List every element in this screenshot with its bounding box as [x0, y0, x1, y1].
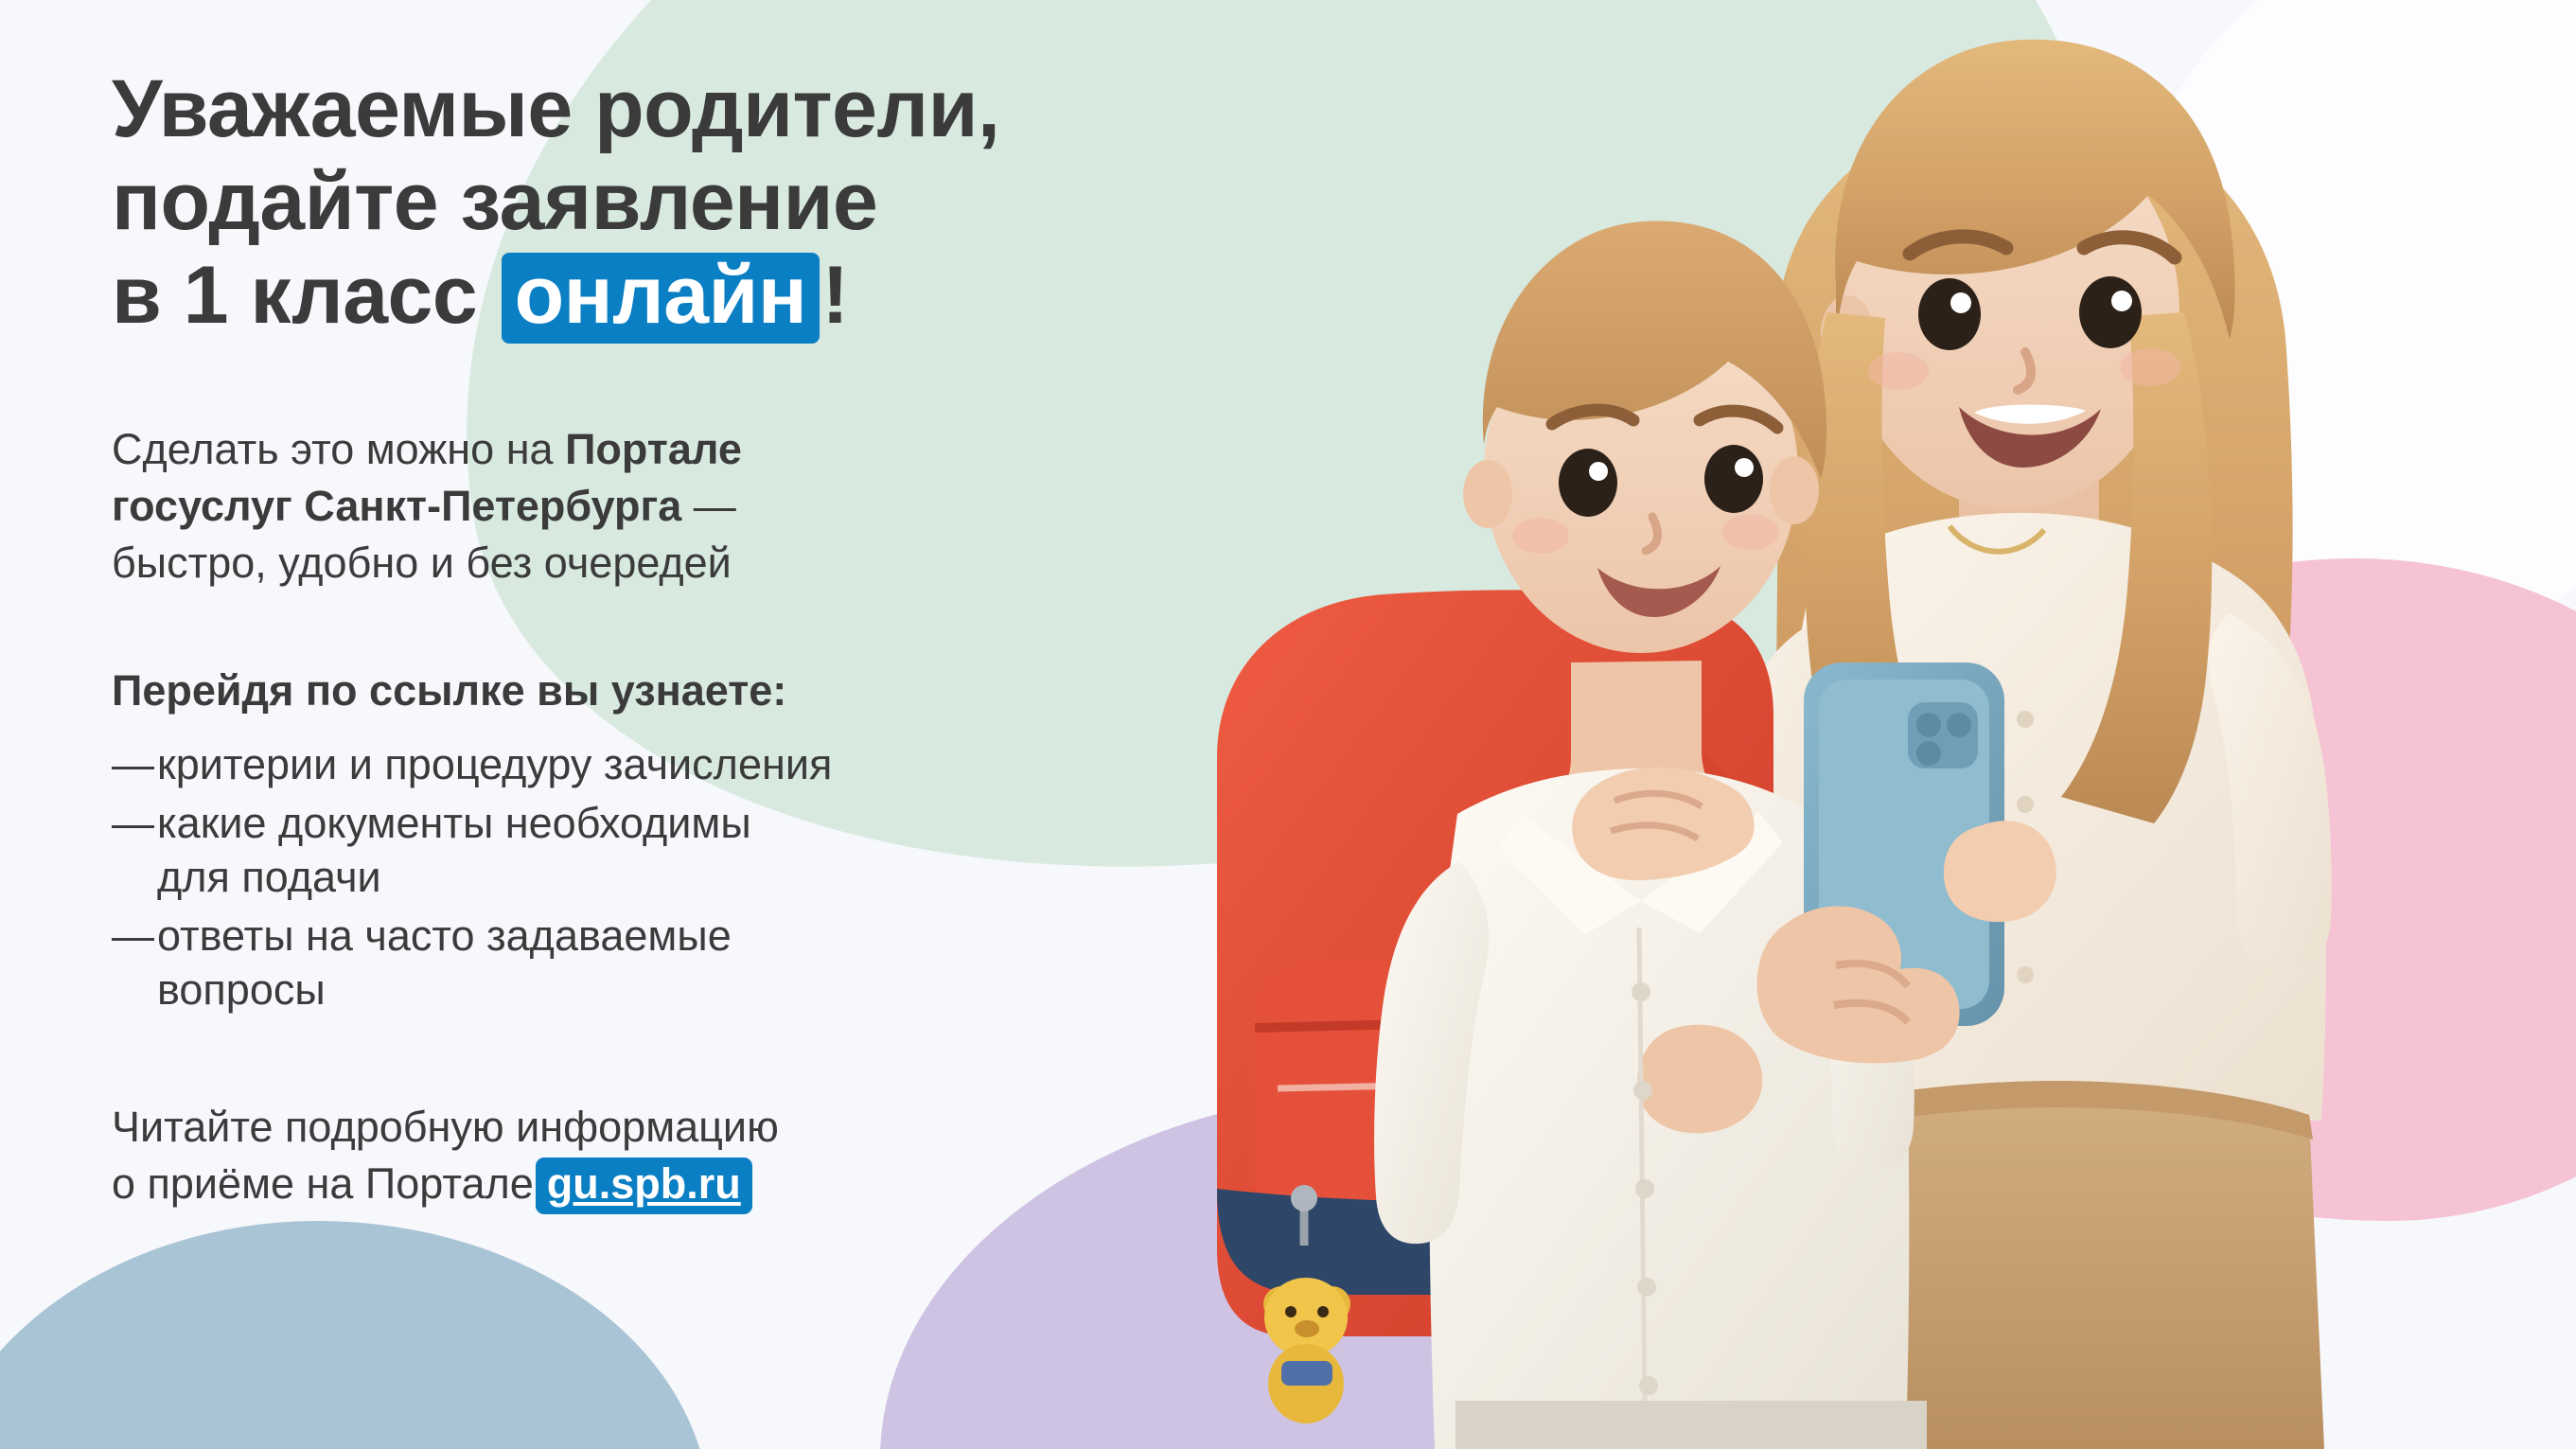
- dash-icon: —: [112, 909, 157, 1017]
- lead-line-2-plain: —: [681, 482, 736, 530]
- online-badge[interactable]: онлайн: [502, 253, 820, 344]
- lead-line-2: госуслуг Санкт-Петербурга —: [112, 478, 1115, 535]
- page-title: Уважаемые родители, подайте заявление в …: [112, 68, 1173, 353]
- benefits-title: Перейдя по ссылке вы узнаете:: [112, 665, 1173, 716]
- list-item-label: какие документы необходимы для подачи: [157, 796, 1173, 905]
- footer-line-2-prefix: о приёме на Портале: [112, 1159, 534, 1208]
- footer-line-1: Читайте подробную информацию: [112, 1099, 1173, 1156]
- dash-icon: —: [112, 796, 157, 905]
- footer-line-2: о приёме на Порталеgu.spb.ru: [112, 1156, 1173, 1213]
- headline-line-2: подайте заявление: [112, 161, 1173, 254]
- headline-line-1: Уважаемые родители,: [112, 68, 1173, 161]
- footer-note: Читайте подробную информацию о приёме на…: [112, 1099, 1173, 1214]
- list-item: — ответы на часто задаваемые вопросы: [112, 909, 1173, 1017]
- lead-line-3: быстро, удобно и без очередей: [112, 535, 1115, 592]
- promo-banner: Уважаемые родители, подайте заявление в …: [0, 0, 2576, 1449]
- headline-exclamation: !: [821, 250, 848, 341]
- benefits-list: — критерии и процедуру зачисления — каки…: [112, 737, 1173, 1017]
- dash-icon: —: [112, 737, 157, 792]
- lead-line-1-plain: Сделать это можно на: [112, 425, 565, 473]
- portal-link-badge[interactable]: gu.spb.ru: [536, 1157, 752, 1213]
- lead-line-1: Сделать это можно на Портале: [112, 421, 1115, 478]
- lead-paragraph: Сделать это можно на Портале госуслуг Са…: [112, 421, 1115, 592]
- list-item-label: критерии и процедуру зачисления: [157, 737, 1173, 792]
- list-item: — какие документы необходимы для подачи: [112, 796, 1173, 905]
- headline-line-3-prefix: в 1 класс: [112, 250, 477, 341]
- lead-line-2-bold: госуслуг Санкт-Петербурга: [112, 482, 681, 530]
- lead-line-1-bold: Портале: [565, 425, 742, 473]
- list-item: — критерии и процедуру зачисления: [112, 737, 1173, 792]
- headline-line-3: в 1 класс онлайн!: [112, 253, 1173, 353]
- benefits-block: Перейдя по ссылке вы узнаете: — критерии…: [112, 665, 1173, 1017]
- banner-text-column: Уважаемые родители, подайте заявление в …: [0, 0, 1173, 1449]
- list-item-label: ответы на часто задаваемые вопросы: [157, 909, 1173, 1017]
- family-illustration: [1079, 0, 2576, 1449]
